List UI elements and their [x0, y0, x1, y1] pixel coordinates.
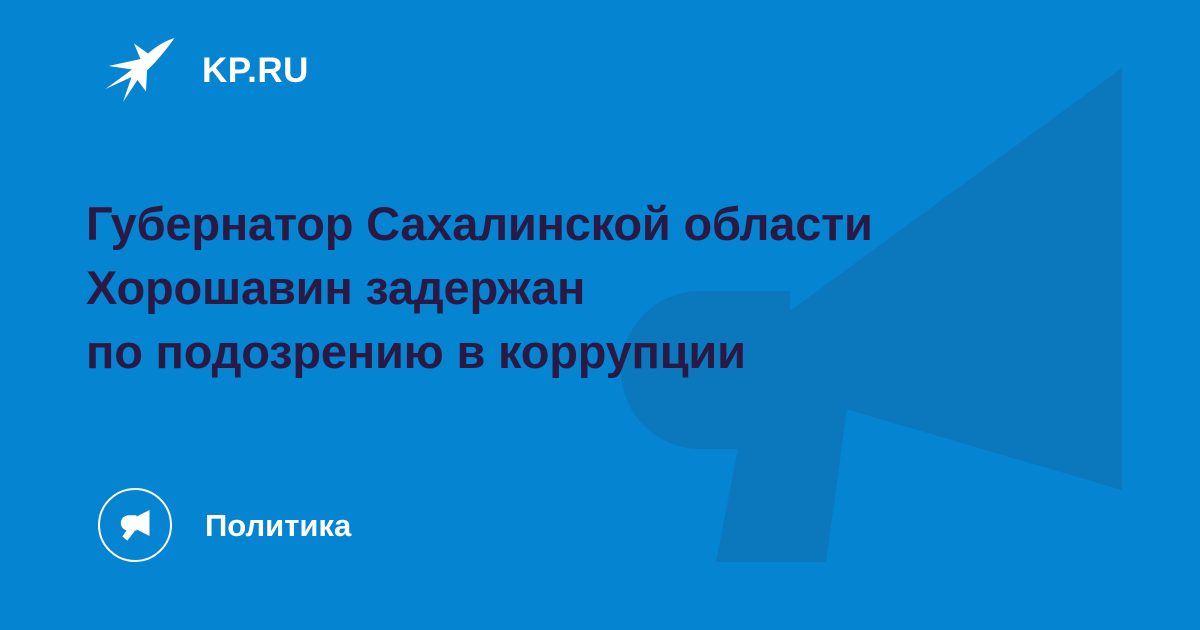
headline-line-2: Хорошавин задержан	[86, 256, 1126, 320]
category-label: Политика	[205, 510, 351, 541]
category-icon-circle	[98, 488, 172, 562]
swallow-bird-logo-icon	[104, 36, 176, 104]
headline-line-3: по подозрению в коррупции	[86, 320, 1126, 384]
megaphone-icon	[116, 506, 154, 544]
brand-logo-group[interactable]: KP.RU	[104, 34, 309, 106]
headline-line-1: Губернатор Сахалинской области	[86, 192, 1126, 256]
category-badge[interactable]: Политика	[98, 485, 351, 565]
social-share-card: KP.RU Губернатор Сахалинской области Хор…	[0, 0, 1200, 630]
brand-name-label: KP.RU	[202, 53, 309, 88]
page-title: Губернатор Сахалинской области Хорошавин…	[86, 192, 1126, 384]
